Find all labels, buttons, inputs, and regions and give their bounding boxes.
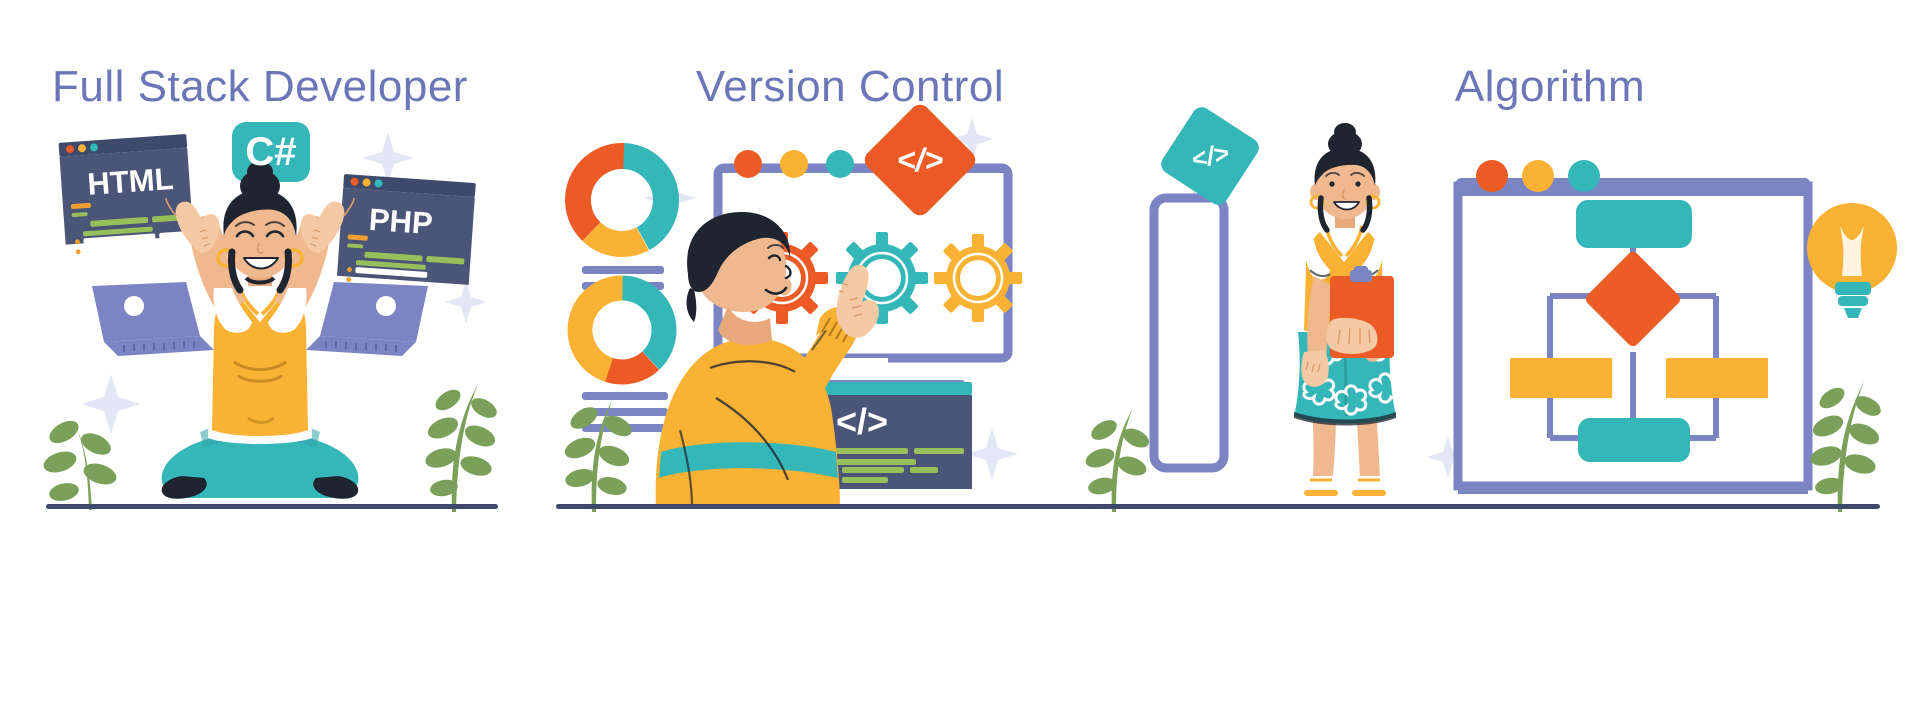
plant-left bbox=[562, 400, 635, 512]
lightbulb-icon bbox=[1807, 203, 1897, 318]
laptop-right[interactable] bbox=[306, 282, 428, 356]
panel-title-algorithm: Algorithm bbox=[1180, 62, 1920, 112]
flow-node-end[interactable] bbox=[1578, 418, 1690, 462]
plant-left bbox=[41, 416, 119, 510]
php-label: PHP bbox=[368, 202, 434, 241]
panel-algorithm: Algorithm bbox=[1180, 0, 1920, 708]
code-diamond-label: </> bbox=[878, 130, 962, 190]
hand-left bbox=[1301, 350, 1329, 387]
donut-chart-top[interactable] bbox=[560, 138, 684, 262]
html-label: HTML bbox=[86, 161, 174, 202]
algorithm-woman bbox=[1294, 123, 1400, 496]
sparkle-icon bbox=[966, 428, 1018, 480]
flow-node-branch-left[interactable] bbox=[1510, 358, 1612, 398]
flow-node-start[interactable] bbox=[1576, 200, 1692, 248]
ground-line bbox=[556, 504, 1146, 509]
html-code-window[interactable]: HTML bbox=[59, 134, 195, 256]
ground-line bbox=[46, 504, 498, 509]
side-window-frame[interactable] bbox=[1154, 198, 1224, 468]
ground-line bbox=[1090, 504, 1880, 509]
csharp-badge-label: C# bbox=[232, 122, 310, 182]
panel-full-stack-developer: Full Stack Developer HTML bbox=[0, 0, 520, 708]
php-code-window[interactable]: PHP bbox=[337, 174, 476, 291]
panel-version-control: Version Control bbox=[520, 0, 1180, 708]
laptop-left[interactable] bbox=[92, 282, 214, 356]
gear-amber[interactable] bbox=[934, 234, 1022, 322]
panel-title-version-control: Version Control bbox=[520, 62, 1180, 112]
plant-right bbox=[423, 384, 500, 512]
code-window-label: </> bbox=[828, 398, 946, 446]
flow-node-branch-right[interactable] bbox=[1666, 358, 1768, 398]
illustration-canvas: Full Stack Developer HTML bbox=[0, 0, 1920, 708]
sparkle-icon bbox=[81, 374, 141, 434]
plant-right bbox=[1808, 382, 1884, 512]
panel-title-full-stack: Full Stack Developer bbox=[0, 62, 520, 112]
sparkle-icon bbox=[445, 281, 487, 323]
